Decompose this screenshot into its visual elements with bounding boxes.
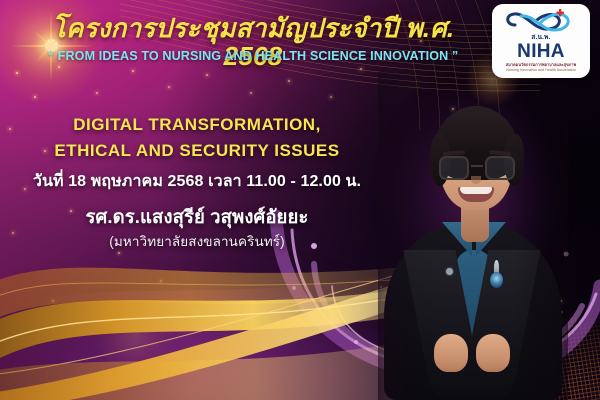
conference-poster: ส.น.พ. NIHA สมาคมนวัตกรรมการพยาบาลและสุข…	[0, 0, 600, 400]
topic-line-1: DIGITAL TRANSFORMATION,	[22, 112, 372, 138]
topic-line-2: ETHICAL AND SECURITY ISSUES	[22, 138, 372, 164]
niha-wordmark: NIHA	[517, 42, 565, 61]
niha-english-caption: Nursing Innovation and Health Associatio…	[506, 68, 576, 72]
niha-logo: ส.น.พ. NIHA สมาคมนวัตกรรมการพยาบาลและสุข…	[492, 4, 590, 78]
schedule-text: วันที่ 18 พฤษภาคม 2568 เวลา 11.00 - 12.0…	[22, 172, 372, 193]
poster-subtitle-english: “ FROM IDEAS TO NURSING AND HEALTH SCIEN…	[28, 50, 478, 64]
speaker-photo	[378, 72, 568, 400]
speaker-info-block: รศ.ดร.แสงสุรีย์ วสุพงศ์อัยยะ (มหาวิทยาลั…	[22, 205, 372, 251]
speaker-name: รศ.ดร.แสงสุรีย์ วสุพงศ์อัยยะ	[22, 205, 372, 229]
topic-block: DIGITAL TRANSFORMATION, ETHICAL AND SECU…	[22, 112, 372, 192]
niha-abbrev-th: ส.น.พ.	[531, 35, 550, 42]
speaker-edge-blend	[378, 72, 568, 400]
niha-thai-caption: สมาคมนวัตกรรมการพยาบาลและสุขภาพ	[506, 63, 576, 68]
speaker-affiliation: (มหาวิทยาลัยสงขลานครินทร์)	[22, 233, 372, 251]
